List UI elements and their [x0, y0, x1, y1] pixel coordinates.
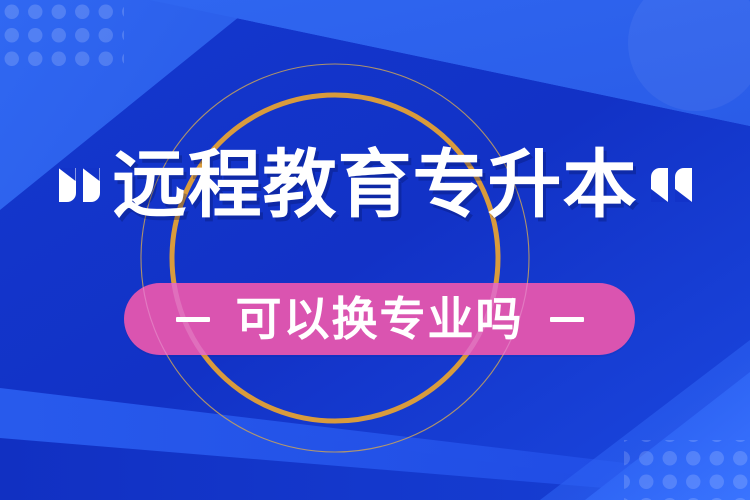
subtitle-pill[interactable]: 可以换专业吗: [124, 283, 635, 355]
subtitle-text: 可以换专业吗: [236, 293, 524, 345]
close-quote-icon: [648, 168, 692, 202]
open-quote-icon: [59, 168, 103, 202]
headline-text: 远程教育专升本: [113, 143, 638, 227]
subtitle-pill-inner: 可以换专业吗: [176, 293, 584, 345]
left-dash-icon: [176, 317, 210, 322]
promo-banner: 远程教育专升本 可以换专业吗: [0, 0, 750, 500]
right-dash-icon: [550, 317, 584, 322]
banner-content: 远程教育专升本 可以换专业吗: [0, 0, 750, 500]
headline: 远程教育专升本: [0, 143, 750, 227]
